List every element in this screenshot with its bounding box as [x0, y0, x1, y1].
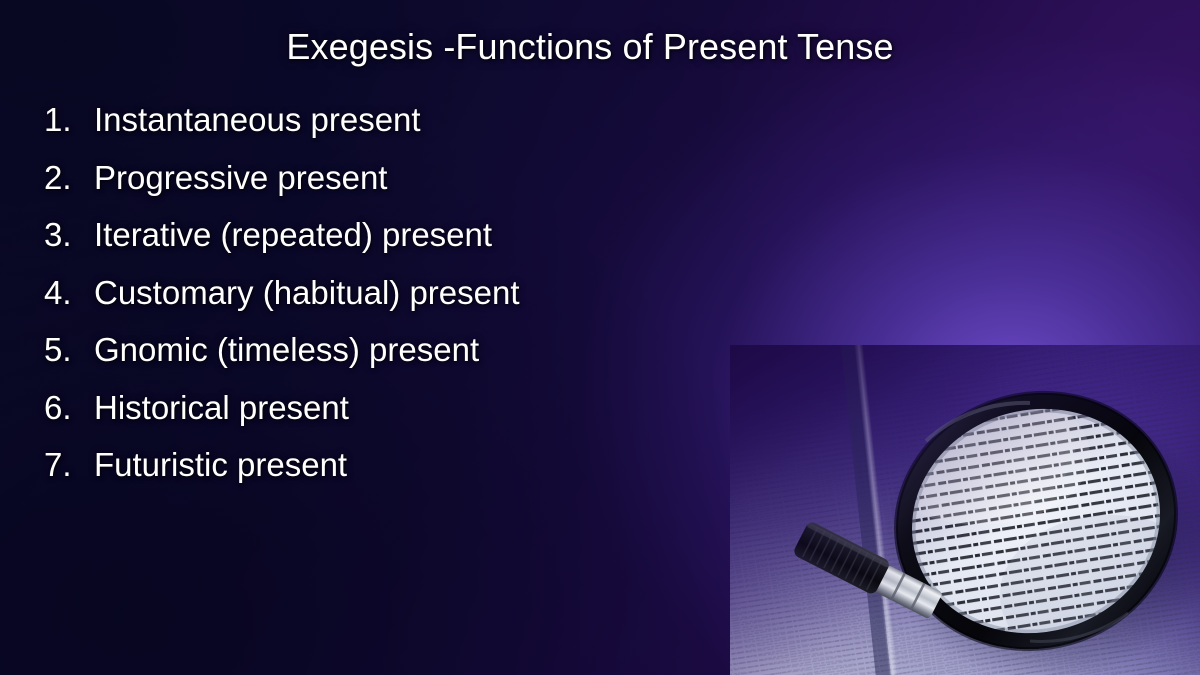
list-item-number: 2. [44, 159, 94, 197]
list-item-number: 5. [44, 331, 94, 369]
list-item: 6. Historical present [44, 389, 804, 447]
list-item-label: Iterative (repeated) present [94, 216, 492, 254]
list-item-label: Gnomic (timeless) present [94, 331, 479, 369]
numbered-list: 1. Instantaneous present 2. Progressive … [44, 101, 804, 504]
list-item-label: Futuristic present [94, 446, 347, 484]
list-item: 2. Progressive present [44, 159, 804, 217]
list-item: 3. Iterative (repeated) present [44, 216, 804, 274]
list-item-label: Historical present [94, 389, 349, 427]
list-item-label: Instantaneous present [94, 101, 421, 139]
list-item-number: 4. [44, 274, 94, 312]
list-item: 1. Instantaneous present [44, 101, 804, 159]
list-item-number: 1. [44, 101, 94, 139]
list-item-label: Progressive present [94, 159, 387, 197]
list-item-number: 3. [44, 216, 94, 254]
list-item-number: 7. [44, 446, 94, 484]
list-item: 4. Customary (habitual) present [44, 274, 804, 332]
list-item: 7. Futuristic present [44, 446, 804, 504]
list-item-number: 6. [44, 389, 94, 427]
list-item: 5. Gnomic (timeless) present [44, 331, 804, 389]
presentation-slide: Exegesis -Functions of Present Tense 1. … [0, 0, 1200, 675]
list-item-label: Customary (habitual) present [94, 274, 520, 312]
slide-title: Exegesis -Functions of Present Tense [0, 26, 1180, 68]
